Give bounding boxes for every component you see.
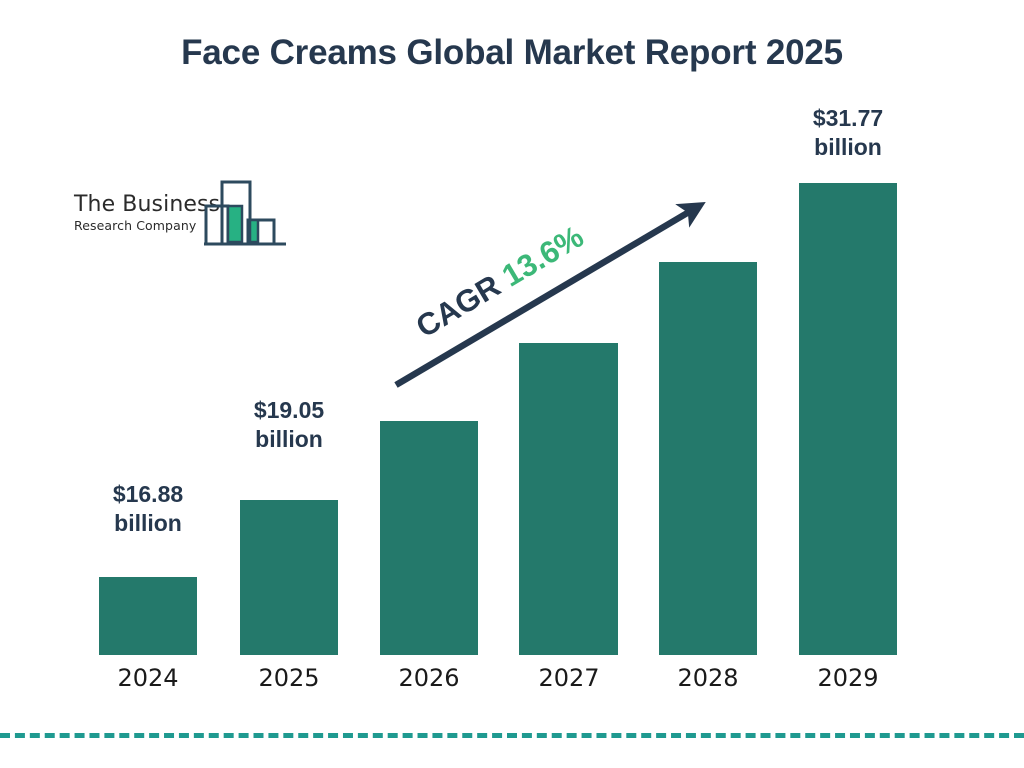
bar-value-2029-amount: $31.77 bbox=[768, 104, 928, 133]
cagr-word: CAGR bbox=[410, 263, 514, 344]
bar-value-2029: $31.77 billion bbox=[768, 104, 928, 163]
x-tick-2025: 2025 bbox=[229, 664, 349, 692]
bar-value-2025-unit: billion bbox=[209, 425, 369, 454]
x-tick-2027: 2027 bbox=[509, 664, 629, 692]
bar-2024 bbox=[99, 577, 197, 655]
bar-2028 bbox=[659, 262, 757, 655]
bar-value-2024-unit: billion bbox=[68, 509, 228, 538]
market-report-infographic: Face Creams Global Market Report 2025 Th… bbox=[0, 0, 1024, 768]
x-tick-2024: 2024 bbox=[88, 664, 208, 692]
bar-value-2029-unit: billion bbox=[768, 133, 928, 162]
x-tick-2028: 2028 bbox=[648, 664, 768, 692]
bar-value-2025-amount: $19.05 bbox=[209, 396, 369, 425]
bar-2025 bbox=[240, 500, 338, 655]
bar-2027 bbox=[519, 343, 618, 655]
x-tick-2029: 2029 bbox=[788, 664, 908, 692]
footer-divider bbox=[0, 733, 1024, 738]
bar-2026 bbox=[380, 421, 478, 655]
cagr-annotation: CAGR 13.6% bbox=[404, 214, 597, 350]
bar-2029 bbox=[799, 183, 897, 655]
bar-value-2024-amount: $16.88 bbox=[68, 480, 228, 509]
bar-chart-plot-area: $16.88 billion $19.05 billion $31.77 bil… bbox=[0, 0, 1024, 768]
cagr-value: 13.6% bbox=[496, 219, 589, 294]
bar-value-2024: $16.88 billion bbox=[68, 480, 228, 539]
bar-value-2025: $19.05 billion bbox=[209, 396, 369, 455]
x-tick-2026: 2026 bbox=[369, 664, 489, 692]
